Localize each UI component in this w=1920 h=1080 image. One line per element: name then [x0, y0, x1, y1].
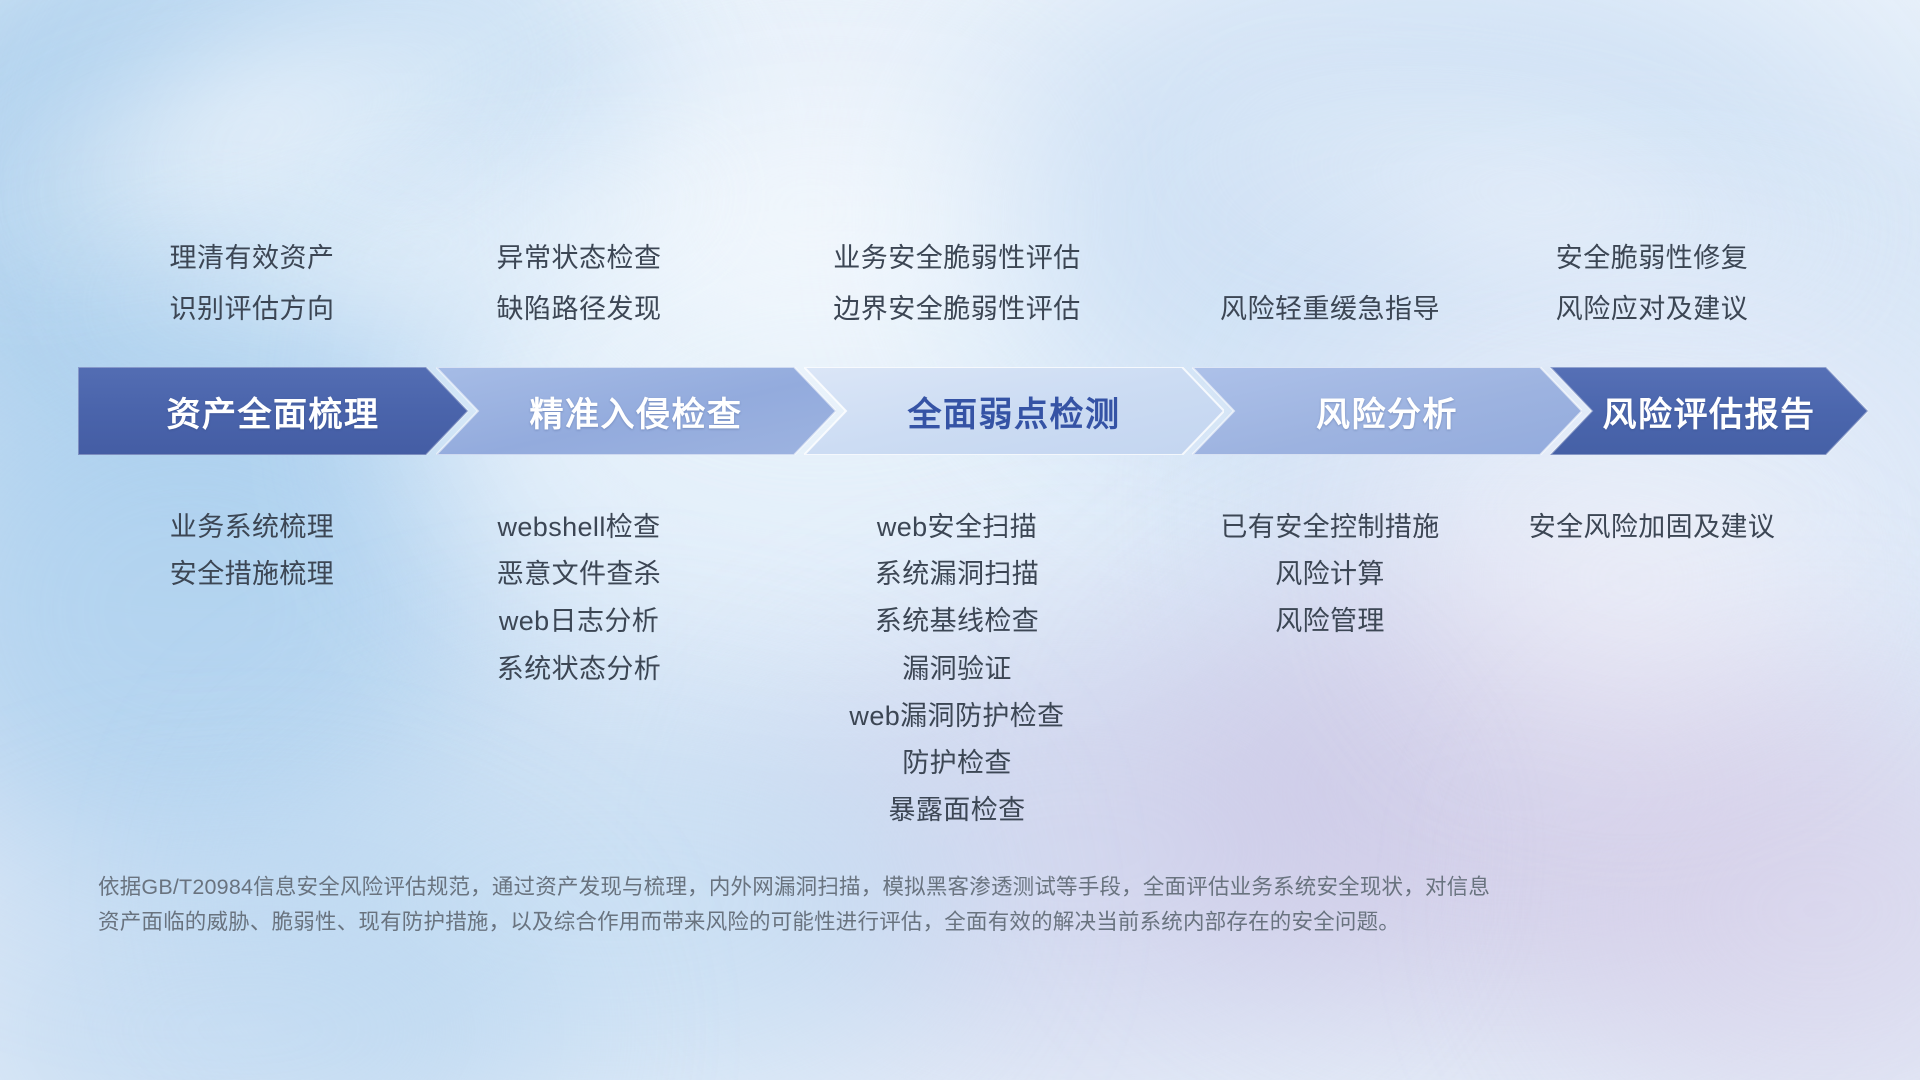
top-descriptors-intrusion-check: 异常状态检查 缺陷路径发现	[400, 244, 758, 325]
flow-stage-risk-analysis[interactable]: 风险分析	[1192, 367, 1582, 455]
flow-stage-asset-inventory[interactable]: 资产全面梳理	[78, 367, 468, 455]
bottom-item: 系统状态分析	[400, 654, 758, 684]
bottom-item: 恶意文件查杀	[400, 559, 758, 589]
top-item: 风险轻重缓急指导	[1156, 295, 1504, 325]
bottom-list: 已有安全控制措施 风险计算 风险管理	[1156, 512, 1504, 637]
bottom-item: 业务系统梳理	[78, 512, 426, 542]
footer-description: 依据GB/T20984信息安全风险评估规范，通过资产发现与梳理，内外网漏洞扫描，…	[98, 870, 1658, 940]
top-descriptors-risk-analysis: 风险轻重缓急指导	[1156, 295, 1504, 325]
top-item: 异常状态检查	[400, 244, 758, 274]
footer-line-1: 依据GB/T20984信息安全风险评估规范，通过资产发现与梳理，内外网漏洞扫描，…	[98, 870, 1658, 905]
bottom-details-risk-report: 安全风险加固及建议	[1514, 512, 1790, 542]
top-item: 风险应对及建议	[1514, 295, 1790, 325]
bottom-item: 暴露面检查	[768, 795, 1146, 825]
bottom-item: 安全措施梳理	[78, 559, 426, 589]
bottom-item: web漏洞防护检查	[768, 701, 1146, 731]
top-item: 安全脆弱性修复	[1514, 244, 1790, 274]
top-item: 识别评估方向	[78, 295, 426, 325]
top-list: 异常状态检查 缺陷路径发现	[400, 244, 758, 325]
flow-stage-label: 精准入侵检查	[530, 387, 743, 436]
flow-stage-intrusion-check[interactable]: 精准入侵检查	[436, 367, 836, 455]
bottom-item: 防护检查	[768, 748, 1146, 778]
bottom-list: 安全风险加固及建议	[1514, 512, 1790, 542]
flow-stage-label: 风险评估报告	[1603, 387, 1816, 436]
top-list: 理清有效资产 识别评估方向	[78, 244, 426, 325]
top-item: 业务安全脆弱性评估	[768, 244, 1146, 274]
top-descriptors-weakness-detection: 业务安全脆弱性评估 边界安全脆弱性评估	[768, 244, 1146, 325]
top-item: 边界安全脆弱性评估	[768, 295, 1146, 325]
bottom-details-risk-analysis: 已有安全控制措施 风险计算 风险管理	[1156, 512, 1504, 637]
bottom-item: 安全风险加固及建议	[1514, 512, 1790, 542]
top-descriptors-asset-inventory: 理清有效资产 识别评估方向	[78, 244, 426, 325]
flow-stage-risk-report[interactable]: 风险评估报告	[1550, 367, 1868, 455]
flow-stage-label: 风险分析	[1316, 387, 1458, 436]
bottom-item: 风险计算	[1156, 559, 1504, 589]
bottom-list: web安全扫描 系统漏洞扫描 系统基线检查 漏洞验证 web漏洞防护检查 防护检…	[768, 512, 1146, 826]
top-item: 理清有效资产	[78, 244, 426, 274]
bottom-list: 业务系统梳理 安全措施梳理	[78, 512, 426, 589]
bottom-details-weakness-detection: web安全扫描 系统漏洞扫描 系统基线检查 漏洞验证 web漏洞防护检查 防护检…	[768, 512, 1146, 826]
bottom-details-intrusion-check: webshell检查 恶意文件查杀 web日志分析 系统状态分析	[400, 512, 758, 684]
bottom-item: 漏洞验证	[768, 654, 1146, 684]
bottom-list: webshell检查 恶意文件查杀 web日志分析 系统状态分析	[400, 512, 758, 684]
top-descriptors-risk-report: 安全脆弱性修复 风险应对及建议	[1514, 244, 1790, 325]
top-item: 缺陷路径发现	[400, 295, 758, 325]
top-descriptor-row: 理清有效资产 识别评估方向 异常状态检查 缺陷路径发现 业务安全脆弱性评估 边界…	[0, 225, 1920, 325]
footer-line-2: 资产面临的威胁、脆弱性、现有防护措施，以及综合作用而带来风险的可能性进行评估，全…	[98, 905, 1658, 940]
bottom-item: 系统漏洞扫描	[768, 559, 1146, 589]
bottom-item: 已有安全控制措施	[1156, 512, 1504, 542]
flow-stage-label: 资产全面梳理	[167, 387, 380, 436]
top-list: 风险轻重缓急指导	[1156, 295, 1504, 325]
top-list: 业务安全脆弱性评估 边界安全脆弱性评估	[768, 244, 1146, 325]
bottom-details-asset-inventory: 业务系统梳理 安全措施梳理	[78, 512, 426, 589]
top-list: 安全脆弱性修复 风险应对及建议	[1514, 244, 1790, 325]
flow-stage-label: 全面弱点检测	[908, 387, 1121, 436]
bottom-item: webshell检查	[400, 512, 758, 542]
bottom-item: web安全扫描	[768, 512, 1146, 542]
process-flow-bar: 资产全面梳理 精准入侵检查	[78, 367, 1868, 455]
bottom-item: 系统基线检查	[768, 606, 1146, 636]
bottom-item: web日志分析	[400, 606, 758, 636]
bottom-item: 风险管理	[1156, 606, 1504, 636]
flow-stage-weakness-detection[interactable]: 全面弱点检测	[804, 367, 1224, 455]
